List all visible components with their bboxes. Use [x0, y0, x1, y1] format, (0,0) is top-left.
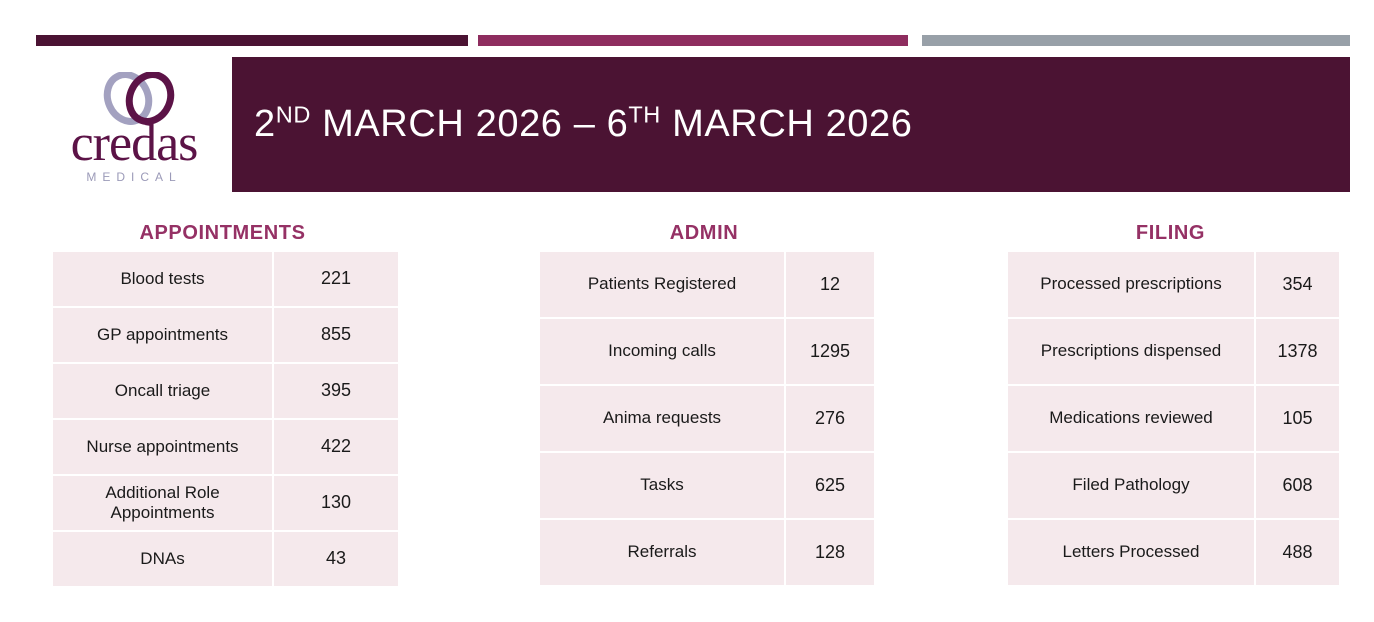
row-label: Filed Pathology: [1008, 453, 1254, 518]
decor-bar-dark-purple: [36, 35, 468, 46]
row-label: DNAs: [53, 532, 272, 586]
row-value: 221: [274, 252, 398, 306]
row-value: 625: [786, 453, 874, 518]
table-row: Prescriptions dispensed 1378: [1008, 319, 1339, 384]
table-row: Processed prescriptions 354: [1008, 252, 1339, 317]
logo-wordmark: credas: [44, 118, 224, 170]
table-row: Oncall triage 395: [53, 364, 398, 418]
title-start-day: 2: [254, 103, 276, 145]
row-label: Referrals: [540, 520, 784, 585]
table-row: Referrals 128: [540, 520, 874, 585]
row-label: Prescriptions dispensed: [1008, 319, 1254, 384]
row-value: 1378: [1256, 319, 1339, 384]
page-title: 2ND MARCH 2026 – 6TH MARCH 2026: [232, 103, 913, 146]
row-label: Blood tests: [53, 252, 272, 306]
row-value: 855: [274, 308, 398, 362]
table-row: Filed Pathology 608: [1008, 453, 1339, 518]
row-label: Medications reviewed: [1008, 386, 1254, 451]
row-label: Anima requests: [540, 386, 784, 451]
row-value: 130: [274, 476, 398, 530]
decor-bar-magenta: [478, 35, 908, 46]
title-middle: MARCH 2026 – 6: [311, 103, 628, 145]
table-row: DNAs 43: [53, 532, 398, 586]
panel-heading-admin: ADMIN: [538, 222, 870, 244]
row-value: 43: [274, 532, 398, 586]
table-row: Anima requests 276: [540, 386, 874, 451]
row-label: Oncall triage: [53, 364, 272, 418]
table-row: Letters Processed 488: [1008, 520, 1339, 585]
table-row: GP appointments 855: [53, 308, 398, 362]
row-value: 608: [1256, 453, 1339, 518]
table-row: Nurse appointments 422: [53, 420, 398, 474]
table-row: Incoming calls 1295: [540, 319, 874, 384]
row-value: 1295: [786, 319, 874, 384]
row-label: Patients Registered: [540, 252, 784, 317]
table-row: Additional Role Appointments 130: [53, 476, 398, 530]
stats-table-filing: Processed prescriptions 354 Prescription…: [1006, 250, 1341, 587]
panel-heading-appointments: APPOINTMENTS: [51, 222, 394, 244]
panel-admin: ADMIN Patients Registered 12 Incoming ca…: [538, 222, 870, 587]
row-value: 276: [786, 386, 874, 451]
row-label: Nurse appointments: [53, 420, 272, 474]
row-label: GP appointments: [53, 308, 272, 362]
table-row: Medications reviewed 105: [1008, 386, 1339, 451]
panel-appointments: APPOINTMENTS Blood tests 221 GP appointm…: [51, 222, 394, 588]
panel-heading-filing: FILING: [1006, 222, 1335, 244]
row-value: 488: [1256, 520, 1339, 585]
row-label: Additional Role Appointments: [53, 476, 272, 530]
row-value: 128: [786, 520, 874, 585]
title-start-ordinal: ND: [276, 101, 311, 127]
title-banner: 2ND MARCH 2026 – 6TH MARCH 2026: [232, 57, 1350, 192]
credas-medical-logo: credas MEDICAL: [44, 72, 224, 182]
row-value: 422: [274, 420, 398, 474]
panel-filing: FILING Processed prescriptions 354 Presc…: [1006, 222, 1335, 587]
title-suffix: MARCH 2026: [661, 103, 913, 145]
row-value: 354: [1256, 252, 1339, 317]
logo-subtitle: MEDICAL: [44, 170, 224, 184]
row-label: Processed prescriptions: [1008, 252, 1254, 317]
stats-table-admin: Patients Registered 12 Incoming calls 12…: [538, 250, 876, 587]
title-end-ordinal: TH: [628, 101, 661, 127]
row-label: Tasks: [540, 453, 784, 518]
row-label: Incoming calls: [540, 319, 784, 384]
row-value: 12: [786, 252, 874, 317]
row-value: 105: [1256, 386, 1339, 451]
table-row: Patients Registered 12: [540, 252, 874, 317]
table-row: Tasks 625: [540, 453, 874, 518]
table-row: Blood tests 221: [53, 252, 398, 306]
stats-table-appointments: Blood tests 221 GP appointments 855 Onca…: [51, 250, 400, 588]
row-label: Letters Processed: [1008, 520, 1254, 585]
decor-bar-grey: [922, 35, 1350, 46]
row-value: 395: [274, 364, 398, 418]
